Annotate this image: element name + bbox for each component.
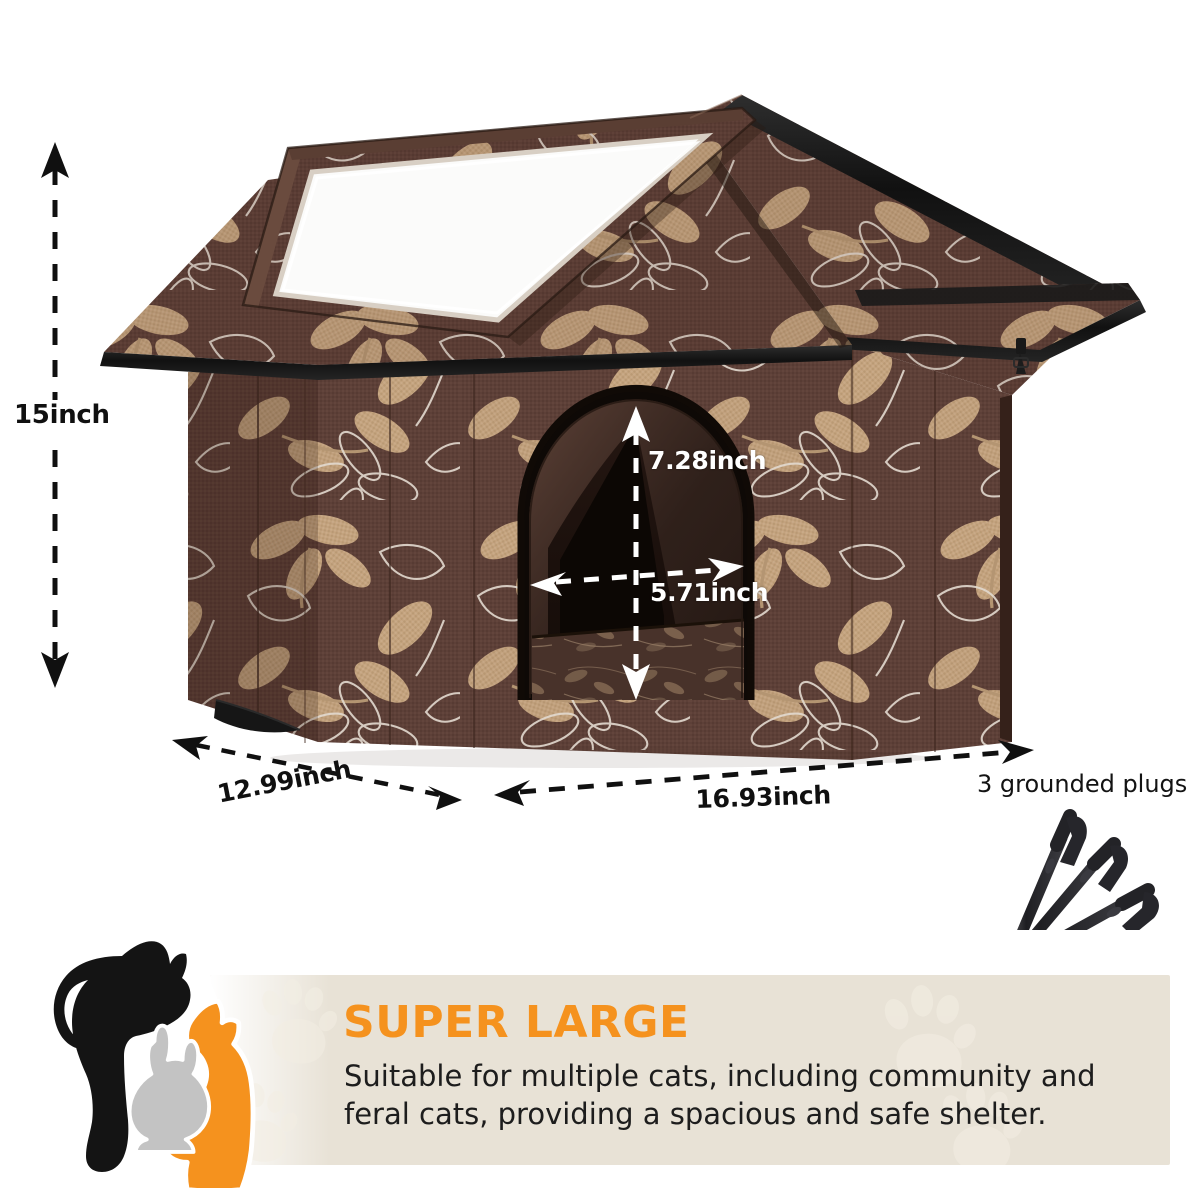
grounded-plugs-illustration bbox=[998, 816, 1159, 930]
dimension-label-door-width: 5.71inch bbox=[650, 578, 768, 607]
dimension-label-door-height: 7.28inch bbox=[648, 446, 766, 475]
banner-description-line-2: feral cats, providing a spacious and saf… bbox=[344, 1097, 1047, 1131]
grounded-plugs-label: 3 grounded plugs bbox=[977, 770, 1187, 798]
banner-title: SUPER LARGE bbox=[343, 997, 690, 1048]
house-right-face bbox=[1000, 395, 1012, 742]
pet-silhouettes bbox=[28, 938, 298, 1188]
banner-description-line-1: Suitable for multiple cats, including co… bbox=[344, 1059, 1095, 1093]
feature-banner: SUPER LARGE Suitable for multiple cats, … bbox=[210, 975, 1170, 1165]
dimension-label-width: 16.93inch bbox=[695, 780, 831, 814]
dimension-label-height: 15inch bbox=[14, 400, 110, 430]
product-infographic: 15inch 12.99inch 16.93inch 7.28inch 5.71… bbox=[0, 0, 1200, 1200]
